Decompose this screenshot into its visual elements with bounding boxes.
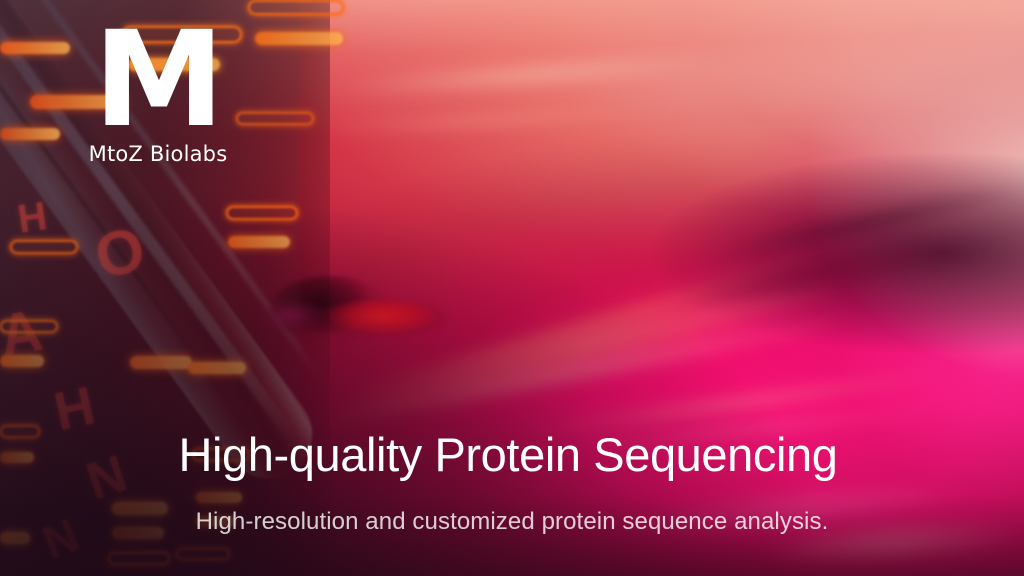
- liquid-droplet: [318, 300, 448, 336]
- brand-logo[interactable]: M MtoZ Biolabs: [58, 22, 258, 166]
- subheadline: High-resolution and customized protein s…: [0, 508, 1024, 536]
- logo-wordmark: MtoZ Biolabs: [58, 142, 258, 166]
- logo-mark-m: M: [58, 22, 258, 138]
- hero-banner: OAHNHN M MtoZ Biolabs High-quality Prote…: [0, 0, 1024, 576]
- headline: High-quality Protein Sequencing: [0, 430, 1024, 479]
